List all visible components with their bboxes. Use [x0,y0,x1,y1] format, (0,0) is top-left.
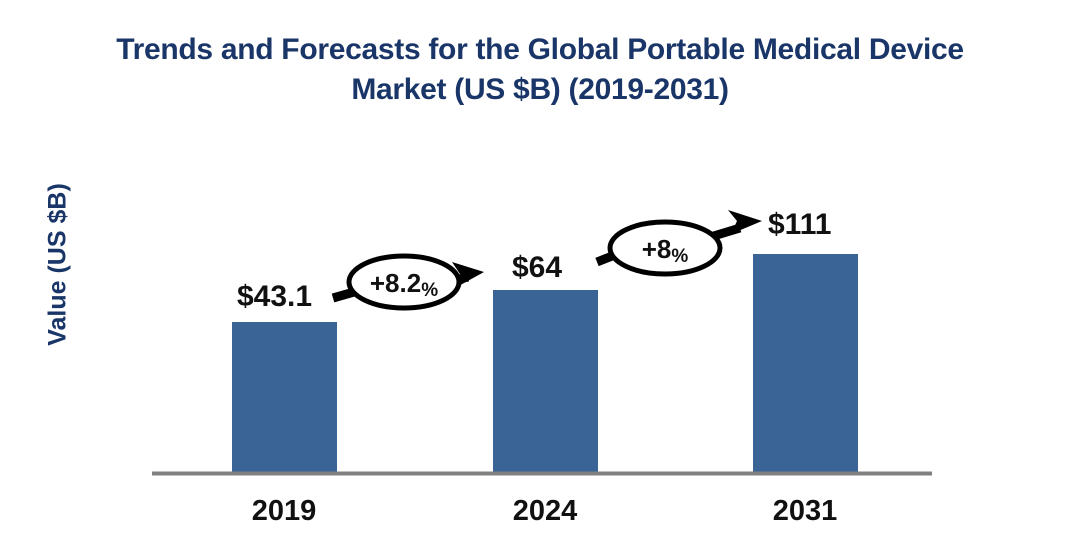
bar-2031 [753,254,858,473]
growth-callout-percent-2: % [671,246,688,267]
value-label-2031: $111 [768,208,831,242]
category-label-2031: 2031 [725,495,885,528]
category-label-2024: 2024 [465,495,625,528]
value-label-2024: $64 [512,251,562,285]
growth-callout-number-1: +8.2 [370,268,421,298]
bar-2024 [493,290,598,473]
growth-arrow-head-2 [728,210,762,234]
growth-callout-percent-1: % [421,280,438,301]
bar-chart: Trends and Forecasts for the Global Port… [0,0,1080,543]
category-label-2019: 2019 [204,495,364,528]
bar-2019 [232,322,337,473]
growth-callout-number-2: +8 [642,234,672,264]
value-label-2019: $43.1 [237,280,312,314]
